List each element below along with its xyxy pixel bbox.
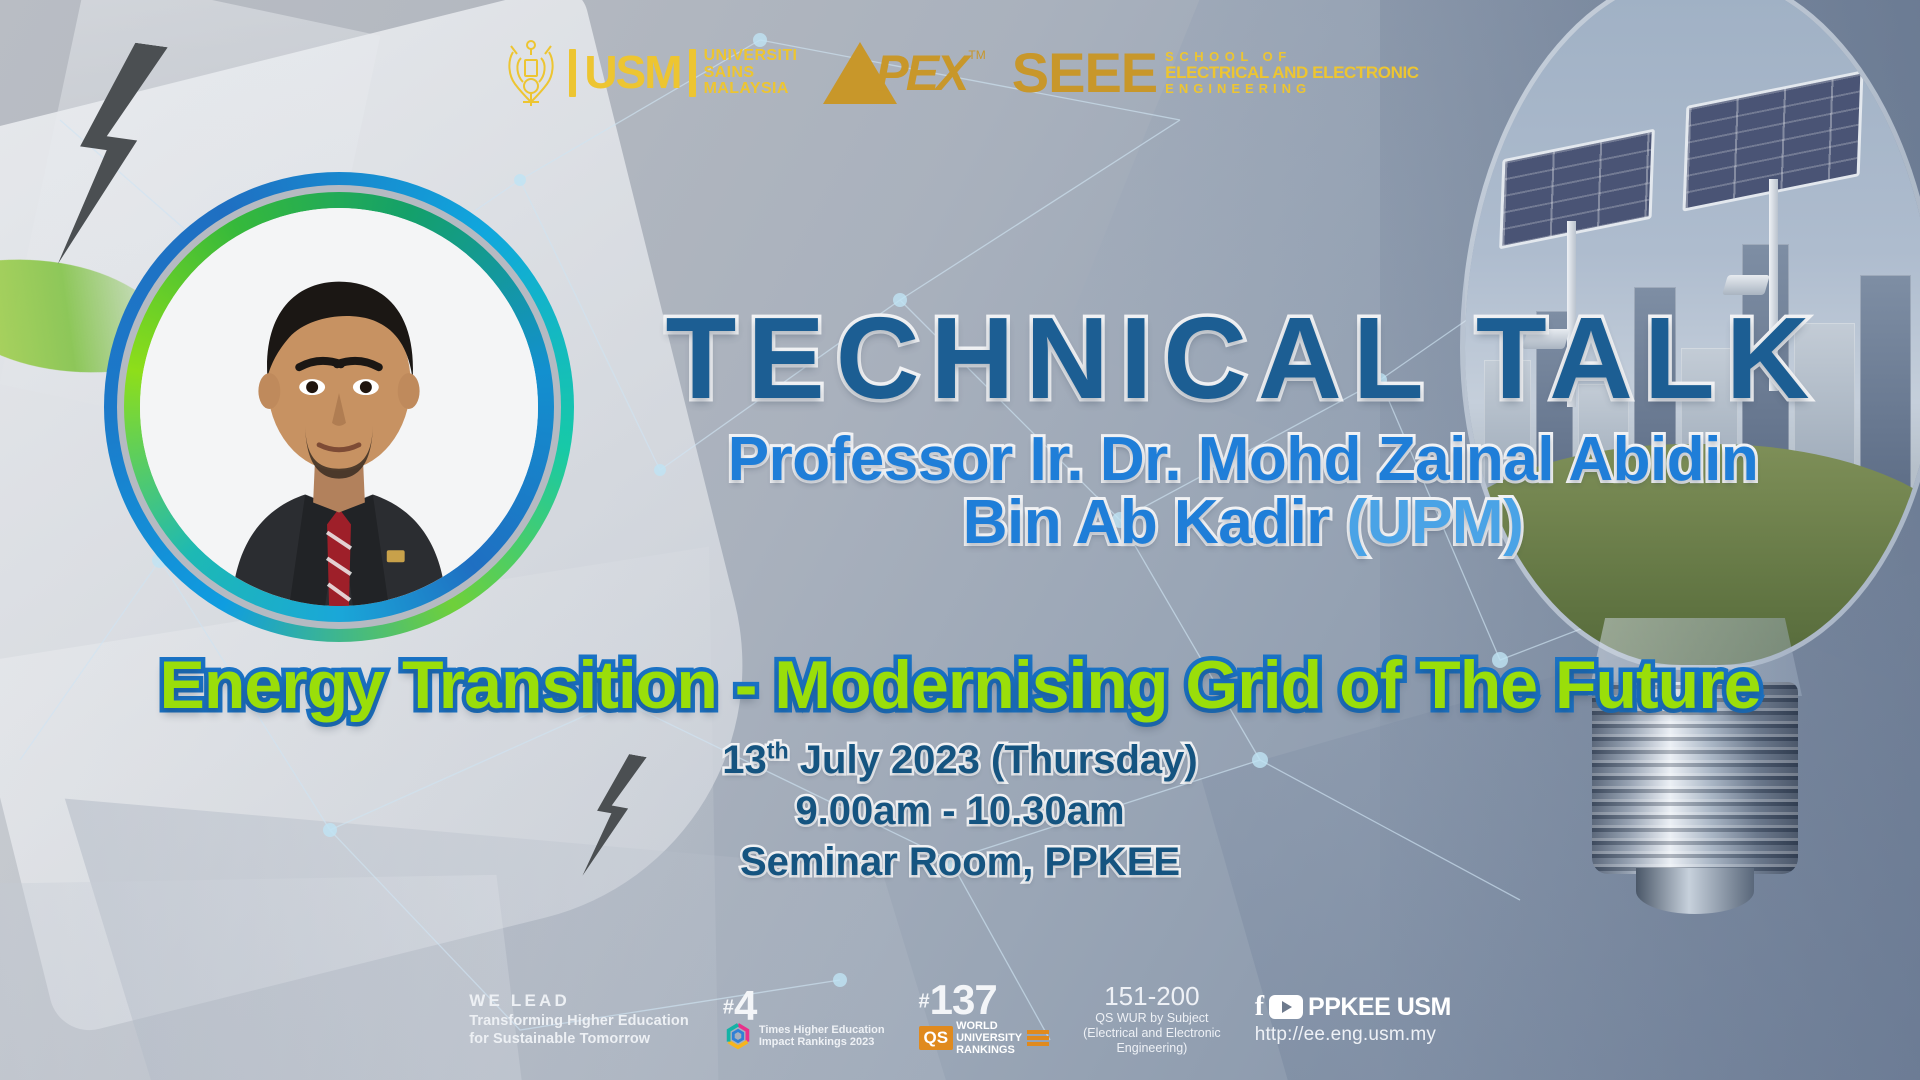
ranking-subject-badge: 151-200 QS WUR by Subject (Electrical an… xyxy=(1083,982,1221,1056)
poster-canvas: USM UNIVERSITI SAINS MALAYSIA PEX TM SEE… xyxy=(0,0,1920,1080)
event-details: 13th July 2023 (Thursday) 9.00am - 10.30… xyxy=(0,735,1920,889)
speaker-name-line1: Professor Ir. Dr. Mohd Zainal Abidin xyxy=(598,428,1888,491)
ranking-the-caption2: Impact Rankings 2023 xyxy=(759,1036,885,1049)
ranking-qs-number: #137 xyxy=(919,981,1050,1020)
speaker-photo xyxy=(140,208,538,606)
usm-wordmark: USM xyxy=(584,52,680,93)
speaker-portrait xyxy=(104,172,574,642)
seee-wordmark: SEEE xyxy=(1012,49,1157,97)
we-lead-block: WE LEAD Transforming Higher Education fo… xyxy=(469,990,689,1049)
event-date-day: 13 xyxy=(722,738,767,782)
footer-bar: WE LEAD Transforming Higher Education fo… xyxy=(0,964,1920,1074)
apex-logo: PEX TM xyxy=(823,42,985,104)
speaker-name-line2-text: Bin Ab Kadir xyxy=(963,488,1330,557)
ranking-the-caption1: Times Higher Education xyxy=(759,1024,885,1037)
qs-line2: UNIVERSITY xyxy=(956,1032,1022,1044)
event-venue: Seminar Room, PPKEE xyxy=(0,837,1920,888)
event-date-ordinal: th xyxy=(767,738,789,764)
seee-logo: SEEE SCHOOL OF ELECTRICAL AND ELECTRONIC… xyxy=(1012,49,1419,97)
website-url[interactable]: http://ee.eng.usm.my xyxy=(1255,1024,1436,1046)
usm-logo: USM UNIVERSITI SAINS MALAYSIA xyxy=(501,36,797,110)
header-logo-row: USM UNIVERSITI SAINS MALAYSIA PEX TM SEE… xyxy=(0,36,1920,110)
times-higher-education-icon xyxy=(723,1021,753,1051)
apex-tm-mark: TM xyxy=(968,48,985,62)
social-handle: PPKEE USM xyxy=(1308,993,1451,1022)
we-lead-sub1: Transforming Higher Education xyxy=(469,1012,689,1030)
usm-fullname-line2: SAINS xyxy=(704,65,798,82)
qs-line1: WORLD xyxy=(956,1020,1022,1032)
usm-fullname: UNIVERSITI SAINS MALAYSIA xyxy=(704,48,798,99)
ranking-the-badge: #4 Times Higher Education Impact Rankin xyxy=(723,987,885,1052)
speaker-name: Professor Ir. Dr. Mohd Zainal Abidin Bin… xyxy=(598,428,1888,554)
speaker-affiliation: (UPM) xyxy=(1347,488,1524,557)
qs-line3: RANKINGS xyxy=(956,1044,1022,1056)
we-lead-sub2: for Sustainable Tomorrow xyxy=(469,1030,689,1048)
hash-symbol: # xyxy=(723,996,734,1018)
social-links[interactable]: f PPKEE USM http://ee.eng.usm.my xyxy=(1255,993,1451,1046)
usm-fullname-line1: UNIVERSITI xyxy=(704,48,798,65)
facebook-icon[interactable]: f xyxy=(1255,993,1264,1021)
ranking-subject-caption2: (Electrical and Electronic xyxy=(1083,1026,1221,1041)
usm-bars-icon xyxy=(569,49,576,97)
seee-fullname-line2: ELECTRICAL AND ELECTRONIC xyxy=(1165,64,1419,82)
youtube-icon[interactable] xyxy=(1269,995,1303,1019)
hash-symbol-qs: # xyxy=(919,991,930,1013)
qs-logo: QS WORLD UNIVERSITY RANKINGS xyxy=(919,1020,1050,1057)
usm-fullname-line3: MALAYSIA xyxy=(704,81,798,98)
seee-fullname: SCHOOL OF ELECTRICAL AND ELECTRONIC ENGI… xyxy=(1165,50,1419,96)
page-title: TECHNICAL TALK xyxy=(598,300,1888,416)
solar-panel-left xyxy=(1503,143,1651,235)
ranking-the-number: #4 xyxy=(723,987,885,1026)
apex-wordmark: PEX xyxy=(875,44,966,102)
seee-fullname-line1: SCHOOL OF xyxy=(1165,50,1419,64)
event-time: 9.00am - 10.30am xyxy=(0,786,1920,837)
usm-crest-icon xyxy=(501,36,561,110)
ranking-qs-value: 137 xyxy=(930,976,997,1023)
ranking-subject-caption1: QS WUR by Subject xyxy=(1083,1011,1221,1026)
qs-mark: QS xyxy=(919,1026,954,1050)
ranking-subject-value: 151-200 xyxy=(1083,982,1221,1011)
we-lead-title: WE LEAD xyxy=(469,990,689,1012)
qs-bars-icon xyxy=(1027,1030,1049,1046)
event-date-rest: July 2023 (Thursday) xyxy=(789,738,1198,782)
seee-fullname-line3: ENGINEERING xyxy=(1165,82,1419,96)
speaker-name-line2: Bin Ab Kadir (UPM) xyxy=(598,491,1888,554)
headline-block: TECHNICAL TALK Professor Ir. Dr. Mohd Za… xyxy=(598,300,1888,554)
talk-topic: Energy Transition - Modernising Grid of … xyxy=(0,646,1920,724)
ranking-qs-badge: #137 QS WORLD UNIVERSITY RANKINGS xyxy=(919,981,1050,1057)
ranking-subject-caption3: Engineering) xyxy=(1083,1041,1221,1056)
event-date: 13th July 2023 (Thursday) xyxy=(0,735,1920,786)
usm-bars-icon-2 xyxy=(689,49,696,97)
